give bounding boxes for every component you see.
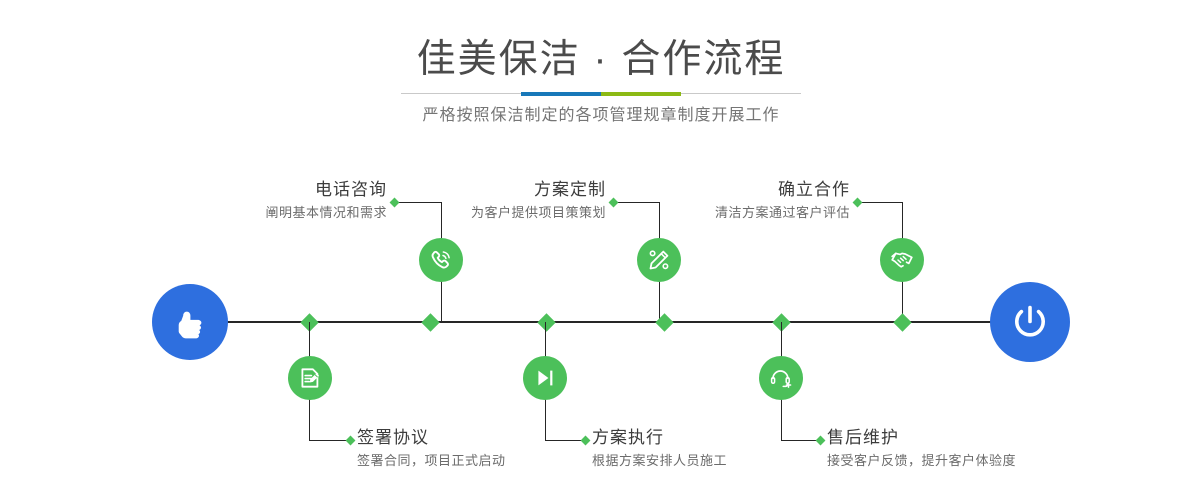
step-icon-1 <box>419 238 463 282</box>
step-label-1: 电话咨询 阐明基本情况和需求 <box>145 178 387 223</box>
step-label-3: 方案定制 为客户提供项目策策划 <box>364 178 606 223</box>
step-desc-3: 为客户提供项目策策划 <box>364 202 606 223</box>
step-label-6: 售后维护 接受客户反馈，提升客户体验度 <box>827 426 1016 471</box>
timeline-elbow-5 <box>858 202 903 203</box>
pencil-ruler-icon <box>646 247 672 273</box>
step-title-5: 确立合作 <box>608 178 850 202</box>
play-execute-icon <box>532 365 558 391</box>
timeline-node-3 <box>537 313 555 331</box>
step-desc-4: 根据方案安排人员施工 <box>592 450 727 471</box>
step-title-2: 签署协议 <box>357 426 506 450</box>
step-title-4: 方案执行 <box>592 426 727 450</box>
step-title-1: 电话咨询 <box>145 178 387 202</box>
timeline: 电话咨询 阐明基本情况和需求 签署协议 签署合同，项目正式启动 <box>0 140 1202 502</box>
step-icon-5 <box>880 238 924 282</box>
handshake-icon <box>889 247 915 273</box>
step-title-3: 方案定制 <box>364 178 606 202</box>
step-icon-2 <box>288 356 332 400</box>
headset-support-icon <box>768 365 794 391</box>
title-divider <box>401 92 801 96</box>
divider-segment-blue <box>521 92 601 96</box>
step-icon-4 <box>523 356 567 400</box>
timeline-label-dot-2 <box>346 436 356 446</box>
step-title-6: 售后维护 <box>827 426 1016 450</box>
step-desc-1: 阐明基本情况和需求 <box>145 202 387 223</box>
power-button-icon <box>1007 299 1053 345</box>
step-icon-6 <box>759 356 803 400</box>
pointing-hand-icon <box>170 302 210 342</box>
timeline-node-6 <box>893 313 911 331</box>
timeline-elbow-4 <box>545 440 585 441</box>
timeline-label-dot-4 <box>581 436 591 446</box>
timeline-axis <box>155 321 1048 323</box>
timeline-label-dot-6 <box>816 436 826 446</box>
process-flow-infographic: 佳美保洁 · 合作流程 严格按照保洁制定的各项管理规章制度开展工作 <box>0 0 1202 502</box>
step-label-4: 方案执行 根据方案安排人员施工 <box>592 426 727 471</box>
step-label-2: 签署协议 签署合同，项目正式启动 <box>357 426 506 471</box>
document-sign-icon <box>297 365 323 391</box>
page-subtitle: 严格按照保洁制定的各项管理规章制度开展工作 <box>0 104 1202 128</box>
step-desc-2: 签署合同，项目正式启动 <box>357 450 506 471</box>
page-title: 佳美保洁 · 合作流程 <box>0 36 1202 84</box>
timeline-label-dot-5 <box>853 198 863 208</box>
header: 佳美保洁 · 合作流程 严格按照保洁制定的各项管理规章制度开展工作 <box>0 0 1202 140</box>
step-desc-6: 接受客户反馈，提升客户体验度 <box>827 450 1016 471</box>
timeline-elbow-2 <box>309 440 350 441</box>
step-icon-3 <box>637 238 681 282</box>
timeline-node-2 <box>421 313 439 331</box>
timeline-end-marker <box>990 282 1070 362</box>
divider-segment-green <box>601 92 681 96</box>
timeline-elbow-6 <box>781 440 820 441</box>
step-label-5: 确立合作 清洁方案通过客户评估 <box>608 178 850 223</box>
step-desc-5: 清洁方案通过客户评估 <box>608 202 850 223</box>
timeline-start-marker <box>152 284 228 360</box>
phone-call-icon <box>428 247 454 273</box>
